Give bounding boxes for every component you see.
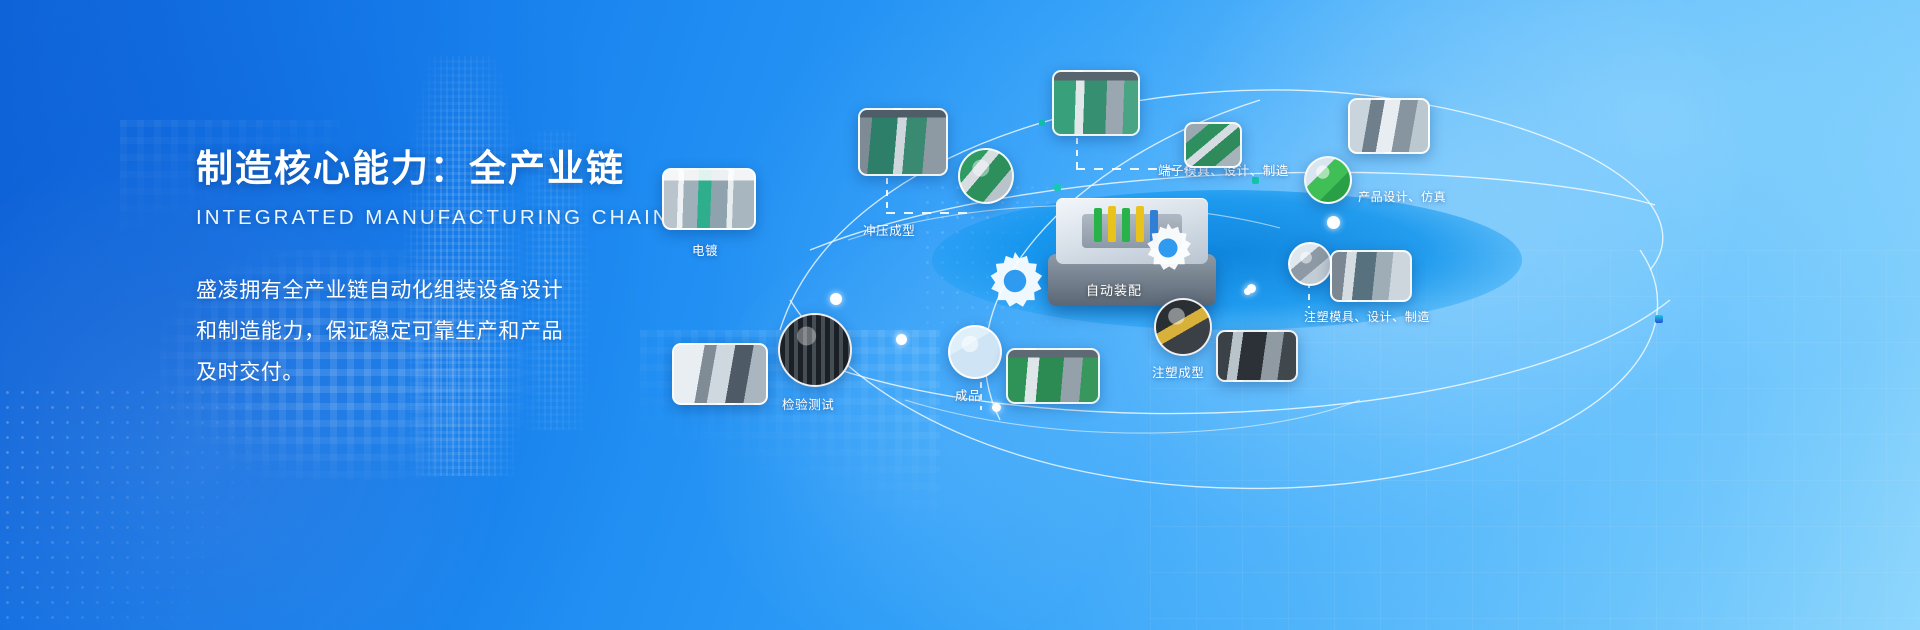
node-label-zhusu-mold: 注塑模具、设计、制造 (1304, 308, 1430, 325)
node-label-dianduo: 电镀 (692, 240, 718, 259)
node-thumb-zhusu-line[interactable] (1216, 330, 1298, 382)
tiny-cube-3 (1655, 315, 1663, 323)
banner-stage: 制造核心能力：全产业链 INTEGRATED MANUFACTURING CHA… (0, 0, 1920, 630)
center-machine-label: 自动装配 (1086, 280, 1142, 299)
tiny-cube-1 (1054, 184, 1061, 191)
orbit-dot-2 (896, 334, 907, 345)
node-label-jianyan: 检验测试 (782, 394, 834, 413)
orbit-dot-6 (1244, 288, 1251, 295)
node-thumb-pcb-tray[interactable] (1184, 122, 1242, 168)
gear-right-icon (1140, 220, 1196, 276)
node-thumb-design-office[interactable] (1348, 98, 1430, 154)
node-thumb-zhusu-mold-shop[interactable] (1330, 250, 1412, 302)
manufacturing-chain-diagram: 自动装配 电镀 冲压成型 端子模具、设计、制造 (640, 0, 1920, 630)
node-label-chengpin: 成品 (955, 385, 981, 404)
node-label-chanpin-sheji: 产品设计、仿真 (1358, 188, 1446, 205)
node-thumb-dianduo[interactable] (662, 168, 756, 230)
orbit-dot-4 (1327, 216, 1340, 229)
gear-left-icon (982, 248, 1048, 314)
node-thumb-lab[interactable] (672, 343, 768, 405)
node-thumb-chongya-circle[interactable] (958, 148, 1014, 204)
orbit-lines (640, 0, 1920, 630)
orbit-dot-1 (830, 293, 842, 305)
node-label-chongya: 冲压成型 (863, 220, 915, 239)
orbit-dot-5 (992, 403, 1001, 412)
node-thumb-chanpin-sheji[interactable] (1304, 156, 1352, 204)
bg-dot-grid-left (0, 385, 330, 630)
dash-connector-duanzi (1076, 138, 1078, 170)
dash-connector-chongya (886, 178, 888, 214)
node-thumb-chongya[interactable] (858, 108, 948, 176)
page-description: 盛凌拥有全产业链自动化组装设备设计和制造能力，保证稳定可靠生产和产品及时交付。 (196, 271, 566, 394)
node-thumb-zhusu-chengxing[interactable] (1154, 298, 1212, 356)
node-thumb-chengpin[interactable] (948, 325, 1002, 379)
node-thumb-assembly-line[interactable] (1006, 348, 1100, 404)
node-thumb-jianyan[interactable] (778, 313, 852, 387)
node-thumb-duanzi-mold[interactable] (1052, 70, 1140, 136)
node-label-zhusu-chengxing: 注塑成型 (1152, 362, 1204, 381)
dash-connector-chongya-h (886, 212, 976, 214)
tiny-cube-2 (1039, 120, 1045, 126)
node-thumb-zhusu-mold-icon[interactable] (1288, 242, 1332, 286)
